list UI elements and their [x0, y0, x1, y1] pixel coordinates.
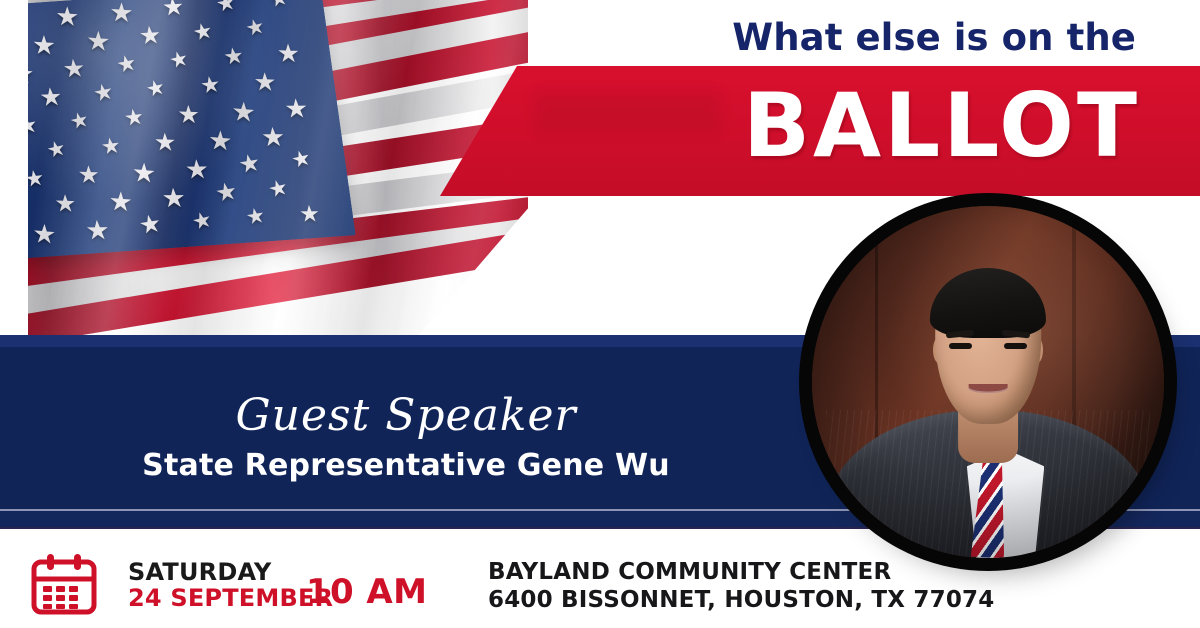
speaker-name: State Representative Gene Wu [0, 448, 812, 483]
venue-address: 6400 BISSONNET, HOUSTON, TX 77074 [488, 586, 994, 614]
banner-sheen [535, 92, 720, 132]
event-venue-block: BAYLAND COMMUNITY CENTER 6400 BISSONNET,… [488, 558, 994, 614]
event-time: 10 AM [306, 572, 427, 612]
portrait-vignette [812, 206, 1164, 558]
event-date-block: SATURDAY 24 SEPTEMBER [128, 560, 333, 612]
event-day: SATURDAY [128, 560, 333, 586]
headline-kicker: What else is on the [732, 16, 1136, 59]
headline-ballot: BALLOT [743, 74, 1140, 177]
usa-flag-image: ★★★★★★★★★★★★★★★★★★★★★★★★★★★★★★★★★★★★★★★★… [28, 0, 528, 336]
speaker-portrait [812, 206, 1164, 558]
event-date: 24 SEPTEMBER [128, 586, 333, 612]
calendar-icon [30, 552, 98, 616]
flyer-canvas: ★★★★★★★★★★★★★★★★★★★★★★★★★★★★★★★★★★★★★★★★… [0, 0, 1200, 628]
guest-speaker-label: Guest Speaker [0, 390, 812, 441]
flag-wave-highlight [28, 0, 528, 336]
venue-name: BAYLAND COMMUNITY CENTER [488, 558, 994, 586]
